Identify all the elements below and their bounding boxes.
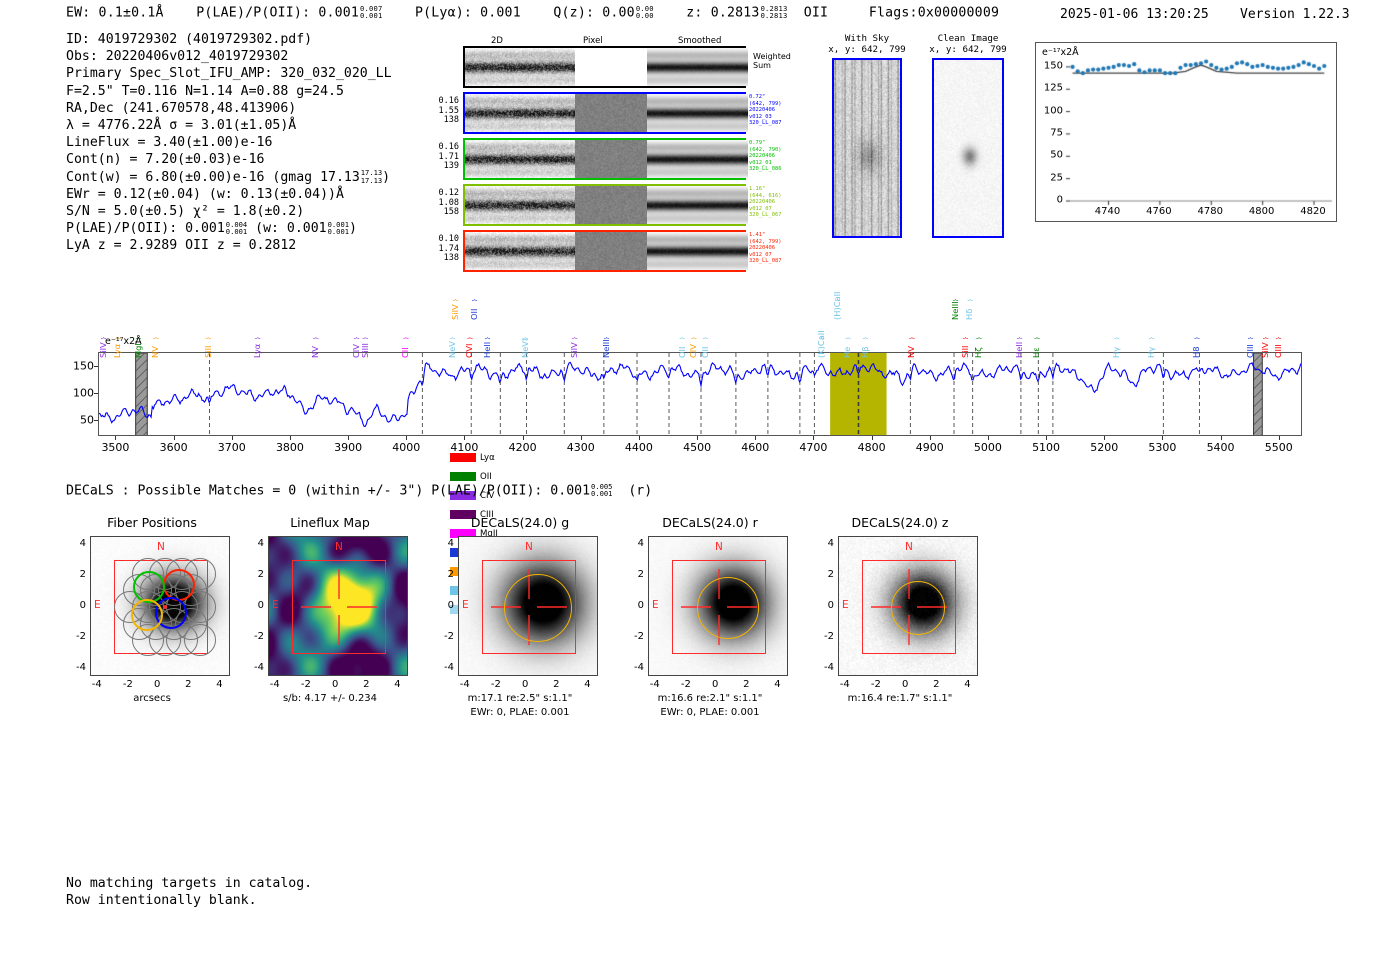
zoom-ytick: 50 [1031,150,1063,161]
main-flux-unit: e⁻¹⁷x2Å [105,336,142,347]
spec2d-right-val: 320_LL_086 [749,166,781,173]
info-line-ewr: EWr = 0.12(±0.04) (w: 0.13(±0.04))Å [66,186,392,203]
emission-line-brace: ⏞ [403,338,408,348]
cutout-xtick: -2 [871,679,881,690]
emission-line-label: H8 [1191,346,1201,358]
spec2d-right-val: 20220406 [749,153,781,160]
top-cutout-image [832,58,902,238]
cutout-footer-1: m:17.1 re:2.5" s:1.1" [430,693,610,704]
cutout-xtick: 0 [154,679,160,690]
emission-line-brace: ⏞ [572,338,577,348]
bottom-cutout-title: DECaLS(24.0) g [430,515,610,530]
spec2d-seg-flat [575,94,647,132]
info-line-cont-w: Cont(w) = 6.80(±0.00)e-16 (gmag 17.1317.… [66,169,392,186]
cutout-xtick: -4 [270,679,280,690]
main-ytick: 100 [62,386,94,399]
top-cutout-name: With Sky [812,33,922,44]
main-ytick: 50 [62,413,94,426]
info-line-plae: P(LAE)/P(OII): 0.0010.0040.001 (w: 0.001… [66,220,392,237]
cutout-ytick: -4 [432,662,454,673]
emission-line-brace: ⏞ [1017,338,1022,348]
effective-radius-circle [504,574,572,642]
cutout-xtick: -2 [681,679,691,690]
spec2d-right-val: 1.41" [749,232,781,239]
spec2d-right-val: v012_07 [749,206,781,213]
spec2d-seg-smooth [647,140,748,178]
spec2d-right-val: (642, 799) [749,239,781,246]
info-plae-w-errors: 0.0010.001 [328,221,349,236]
info-line-redshifts: LyA z = 2.9289 OII z = 0.2812 [66,237,392,254]
spec2d-left-val: 139 [433,162,459,172]
header-plae-errors: 0.0070.001 [360,5,382,20]
zoom-xtick: 4740 [1095,206,1120,217]
emission-line-brace: ⏞ [206,338,211,348]
spec2d-right-val: v012_03 [749,114,781,121]
main-xtick: 4900 [916,441,944,454]
emission-line-brace: ⏞ [963,338,968,348]
main-xtick: 4800 [858,441,886,454]
cutout-xlabel: arcsecs [62,693,242,704]
spec2d-left-stats: 0.161.55138 [433,97,459,126]
bottom-cutout-title: Lineflux Map [240,515,420,530]
cutout-xtick: 2 [185,679,191,690]
emission-line-brace: ⏞ [472,300,477,310]
main-xtick-mark [232,436,233,440]
bottom-cutout-image: NE [90,536,230,676]
cutout-ytick: 2 [812,569,834,580]
emission-line-brace: ⏞ [909,338,914,348]
spec2d-right-val: 320_LL_067 [749,212,781,219]
main-xtick: 4000 [392,441,420,454]
zoom-xtick: 4800 [1249,206,1274,217]
cutout-xtick: 4 [394,679,400,690]
cutout-overlays: NE [91,537,230,676]
spec2d-right-val: 20220406 [749,107,781,114]
bottom-cutout-image: NE [648,536,788,676]
cutout-xtick: -2 [301,679,311,690]
cutout-ytick: 0 [622,600,644,611]
emission-line-brace: ⏞ [1263,338,1268,348]
emission-line-brace: ⏞ [976,338,981,348]
cutout-xtick: -4 [840,679,850,690]
header-plya: P(Lyα): 0.001 [415,5,521,20]
spec2d-right-val: (642, 790) [749,147,781,154]
cutout-footer-1: m:16.4 re:1.7" s:1.1" [810,693,990,704]
footer-line-2: Row intentionally blank. [66,892,312,909]
cutout-ytick: -4 [242,662,264,673]
main-ytick-mark [94,366,98,367]
effective-radius-circle [697,577,759,639]
emission-line-brace: ⏞ [153,338,158,348]
decals-suffix: (r) [628,483,652,498]
info-line-seeing: F=2.5" T=0.116 N=1.14 A=0.88 g=24.5 [66,83,392,100]
col-title-smoothed: Smoothed [678,36,721,46]
main-xtick-mark [406,436,407,440]
main-xtick-mark [1221,436,1222,440]
cutout-footer-1: s/b: 4.17 +/- 0.234 [240,693,420,704]
zoom-spectrum-plot [1035,42,1337,222]
cutout-xtick: -2 [491,679,501,690]
spec2d-right-meta: 0.79"(642, 790)20220406v012_01320_LL_086 [749,140,781,173]
spec2d-seg-raw [465,140,575,178]
cutout-ytick: -4 [622,662,644,673]
spec2d-right-val: 1.16" [749,186,781,193]
spec2d-strip [463,184,746,226]
zoom-ytick: 75 [1031,127,1063,138]
main-xtick: 5400 [1207,441,1235,454]
cutout-ytick: 0 [432,600,454,611]
spec2d-right-val: (644, 616) [749,193,781,200]
header-ew: EW: 0.1±0.1Å [66,5,164,20]
main-xtick-mark [872,436,873,440]
main-xtick: 4400 [625,441,653,454]
emission-line-brace: ⏞ [313,338,318,348]
spec2d-strip [463,46,746,88]
cutout-xtick: 0 [522,679,528,690]
cutout-ytick: 4 [432,538,454,549]
spec2d-seg-flat [575,232,647,270]
main-xtick: 5100 [1032,441,1060,454]
spec2d-seg-raw [465,94,575,132]
cutout-xtick: 0 [712,679,718,690]
spec2d-right-val: v012_07 [749,252,781,259]
emission-line-brace: ⏞ [255,338,260,348]
zoom-xtick: 4820 [1300,206,1325,217]
cutout-ytick: 4 [622,538,644,549]
footer-line-1: No matching targets in catalog. [66,875,312,892]
cutout-xtick: 2 [743,679,749,690]
bottom-cutout-image: NE [458,536,598,676]
spec2d-left-val: 138 [433,254,459,264]
cutout-xtick: 0 [332,679,338,690]
zoom-ytick: 150 [1031,60,1063,71]
emission-line-brace: ⏞ [450,338,455,348]
main-xtick: 3700 [218,441,246,454]
cutout-ytick: 2 [432,569,454,580]
spec2d-seg-flat [575,186,647,224]
info-line-primary-spec: Primary Spec_Slot_IFU_AMP: 320_032_020_L… [66,65,392,82]
spec2d-right-val: (642, 799) [749,101,781,108]
decals-prefix: DECaLS : Possible Matches = 0 (within +/… [66,483,590,498]
zoom-ytick: 25 [1031,172,1063,183]
cutout-footer-2: EWr: 0, PLAE: 0.001 [620,707,800,718]
emission-line-brace: ⏞ [453,300,458,310]
main-xtick: 3500 [101,441,129,454]
emission-line-brace: ⏞ [1276,338,1281,348]
info-plae-errors: 0.0040.001 [226,221,247,236]
legend-label: OII [480,472,492,482]
spec2d-right-val: 20220406 [749,199,781,206]
emission-line-brace: ⏞ [1034,338,1039,348]
emission-line-label: Hγ [1146,347,1156,358]
cutout-ytick: 2 [242,569,264,580]
legend-swatch [450,472,476,481]
cutout-ytick: 2 [622,569,644,580]
cutout-ytick: -2 [432,631,454,642]
version: Version 1.22.3 [1240,7,1350,22]
emission-line-brace: ⏞ [845,338,850,348]
main-xtick-mark [988,436,989,440]
cutout-xtick: -4 [92,679,102,690]
header-z-errors: 0.28130.2813 [761,5,788,20]
header-qz: Q(z): 0.00 [553,5,634,20]
emission-line-label: OII [700,347,710,358]
emission-line-brace: ⏞ [819,338,824,348]
header-timestamp-version: 2025-01-06 13:20:25 Version 1.22.3 [1060,7,1350,22]
emission-line-label: OII [677,347,687,358]
main-xtick-mark [115,436,116,440]
zoom-ytick: 100 [1031,105,1063,116]
emission-line-label: He [842,347,852,358]
detection-info-block: ID: 4019729302 (4019729302.pdf) Obs: 202… [66,31,392,255]
cutout-ytick: 4 [242,538,264,549]
main-xtick: 3800 [276,441,304,454]
main-xtick-mark [930,436,931,440]
fiber-circle-highlight [131,599,163,631]
cutout-xtick: -2 [123,679,133,690]
bottom-cutout-title: Fiber Positions [62,515,242,530]
main-xtick: 4600 [741,441,769,454]
north-marker: N [157,541,165,553]
emission-line-brace: ⏞ [363,338,368,348]
legend-label: Lyα [480,453,495,463]
main-xtick: 4700 [799,441,827,454]
cutout-overlays: NE [839,537,978,676]
top-cutout-title: Clean Imagex, y: 642, 799 [912,33,1024,55]
header-z-type: OII [804,5,828,20]
spec2d-right-val: 0.72" [749,94,781,101]
header-z: z: 0.2813 [686,5,759,20]
main-xtick-mark [1162,436,1163,440]
spec2d-right-val: 320_LL_087 [749,120,781,127]
cutout-xtick: -4 [460,679,470,690]
spec2d-right-val: 20220406 [749,245,781,252]
spec2d-seg-smooth [647,186,748,224]
spec2d-seg-smooth [647,94,748,132]
emission-line-brace: ⏞ [1114,338,1119,348]
cutout-xtick: 4 [774,679,780,690]
main-xtick-mark [174,436,175,440]
spec2d-right-meta: 0.72"(642, 799)20220406v012_03320_LL_087 [749,94,781,127]
main-xtick-mark [464,436,465,440]
main-spectrum-plot [98,352,1302,436]
top-cutout-title: With Skyx, y: 642, 799 [812,33,922,55]
gmag-errors: 17.1317.13 [361,169,382,184]
spec2d-seg-flat [575,48,647,86]
info-line-lineflux: LineFlux = 3.40(±1.00)e-16 [66,134,392,151]
spec2d-left-stats: 0.161.71139 [433,143,459,172]
main-xtick: 5300 [1148,441,1176,454]
cutout-xtick: -4 [650,679,660,690]
main-xtick-mark [1046,436,1047,440]
crosshair-icon [269,537,408,676]
spec2d-left-val: 138 [433,116,459,126]
main-ytick-mark [94,420,98,421]
main-xtick: 5000 [974,441,1002,454]
top-cutout-name: Clean Image [912,33,1024,44]
cutout-ytick: -4 [64,662,86,673]
main-xtick: 5200 [1090,441,1118,454]
spec2d-left-val: 158 [433,208,459,218]
main-xtick-mark [581,436,582,440]
footer-text: No matching targets in catalog. Row inte… [66,875,312,910]
cutout-xtick: 4 [216,679,222,690]
main-xtick-mark [1279,436,1280,440]
spec2d-seg-smooth [647,48,748,86]
target-center-dot [163,605,167,609]
info-line-obs: Obs: 20220406v012_4019729302 [66,48,392,65]
main-xtick: 4300 [567,441,595,454]
cutout-ytick: -4 [812,662,834,673]
cutout-ytick: 0 [812,600,834,611]
top-cutout-image [932,58,1004,238]
emission-line-brace: ⏞ [967,300,972,310]
main-ytick-mark [94,393,98,394]
emission-line-brace: ⏞ [703,338,708,348]
emission-line-brace: ⏞ [485,338,490,348]
spec2d-right-val: 0.79" [749,140,781,147]
spec2d-right-val: v012_01 [749,160,781,167]
emission-line-brace: ⏞ [1194,338,1199,348]
spec2d-right-meta: 1.41"(642, 799)20220406v012_07320_LL_087 [749,232,781,265]
spec2d-right-meta: 1.16"(644, 616)20220406v012_07320_LL_067 [749,186,781,219]
zoom-flux-unit: e⁻¹⁷x2Å [1042,47,1079,58]
top-cutout-coords: x, y: 642, 799 [912,44,1024,55]
cutout-ytick: -2 [622,631,644,642]
cutout-overlays: NE [649,537,788,676]
spec2d-strip [463,92,746,134]
main-xtick: 3900 [334,441,362,454]
emission-line-brace: ⏞ [1149,338,1154,348]
zoom-ytick: 125 [1031,83,1063,94]
legend-swatch [450,453,476,462]
zoom-xtick: 4760 [1146,206,1171,217]
main-xtick: 5500 [1265,441,1293,454]
fiber-circle [184,624,216,656]
header-flags: Flags:0x00000009 [869,5,999,20]
emission-line-label: Hβ [860,346,870,358]
cutout-xtick: 2 [363,679,369,690]
emission-line-brace: ⏞ [354,338,359,348]
cutout-ytick: 4 [64,538,86,549]
cutout-footer-1: m:16.6 re:2.1" s:1.1" [620,693,800,704]
emission-line-label: Hγ [1111,347,1121,358]
zoom-xtick: 4780 [1198,206,1223,217]
cutout-xtick: 0 [902,679,908,690]
legend-item: Lyα [450,447,495,466]
cutout-ytick: -2 [242,631,264,642]
main-xtick: 3600 [160,441,188,454]
emission-line-brace: ⏞ [523,338,528,348]
bottom-cutout-image: NE [838,536,978,676]
spec2d-seg-smooth [647,232,748,270]
spec2d-seg-raw [465,232,575,270]
main-xtick: 4500 [683,441,711,454]
top-cutout-coords: x, y: 642, 799 [812,44,922,55]
emission-line-brace: ⏞ [1248,338,1253,348]
bottom-cutout-image: NE [268,536,408,676]
cutout-ytick: -2 [812,631,834,642]
cutout-xtick: 4 [584,679,590,690]
cutout-xtick: 2 [553,679,559,690]
main-xtick-mark [697,436,698,440]
cutout-ytick: 4 [812,538,834,549]
cutout-footer-2: EWr: 0, PLAE: 0.001 [430,707,610,718]
spec2d-seg-flat [575,140,647,178]
main-xtick-mark [523,436,524,440]
cutout-ytick: 0 [64,600,86,611]
spec2d-left-stats: 0.121.08158 [433,189,459,218]
main-xtick-mark [755,436,756,440]
cutout-overlays: NE [459,537,598,676]
emission-line-label: Hδ [964,309,974,320]
emission-line-label: OII [469,309,479,320]
spec2d-seg-raw [465,48,575,86]
emission-line-brace: ⏞ [467,338,472,348]
spec2d-strip [463,230,746,272]
emission-line-brace: ⏞ [604,338,609,348]
emission-line-label: Hζ [973,347,983,358]
main-ytick: 150 [62,359,94,372]
main-xtick-mark [639,436,640,440]
main-xtick-mark [813,436,814,440]
zoom-ytick: 0 [1031,195,1063,206]
cutout-ytick: -2 [64,631,86,642]
timestamp: 2025-01-06 13:20:25 [1060,7,1209,22]
weighted-sum-label: WeightedSum [753,52,791,70]
cutout-xtick: 2 [933,679,939,690]
bottom-cutout-title: DECaLS(24.0) r [620,515,800,530]
emission-line-brace: ⏞ [953,300,958,310]
cutout-ytick: 2 [64,569,86,580]
info-line-wavelength: λ = 4776.22Å σ = 3.01(±1.05)Å [66,117,392,134]
cutout-ytick: 0 [242,600,264,611]
emission-line-label: Hε [1031,347,1041,358]
emission-line-brace: ⏞ [680,338,685,348]
bottom-cutout-title: DECaLS(24.0) z [810,515,990,530]
info-line-radec: RA,Dec (241.670578,48.413906) [66,100,392,117]
main-xtick-mark [348,436,349,440]
spec2d-seg-raw [465,186,575,224]
info-line-snr: S/N = 5.0(±0.5) χ² = 1.8(±0.2) [66,203,392,220]
cutout-xtick: 4 [964,679,970,690]
emission-line-brace: ⏞ [691,338,696,348]
info-line-cont-n: Cont(n) = 7.20(±0.03)e-16 [66,151,392,168]
emission-line-label: CII [400,347,410,358]
info-line-id: ID: 4019729302 (4019729302.pdf) [66,31,392,48]
decals-summary-line: DECaLS : Possible Matches = 0 (within +/… [66,483,652,498]
decals-plae-errors: 0.0050.001 [591,483,612,498]
header-plae: P(LAE)/P(OII): 0.001 [196,5,359,20]
cutout-overlays: NE [269,537,408,676]
spec2d-strip [463,138,746,180]
effective-radius-circle [891,581,945,635]
emission-line-brace: ⏞ [863,338,868,348]
spec2d-right-val: 320_LL_087 [749,258,781,265]
east-marker: E [94,599,101,611]
header-qz-errors: 0.000.00 [636,5,654,20]
main-xtick-mark [290,436,291,440]
spec2d-left-stats: 0.101.74138 [433,235,459,264]
emission-line-brace: ⏞ [835,300,840,310]
header-summary-line: EW: 0.1±0.1Å P(LAE)/P(OII): 0.0010.0070.… [66,5,999,20]
main-xtick-mark [1104,436,1105,440]
